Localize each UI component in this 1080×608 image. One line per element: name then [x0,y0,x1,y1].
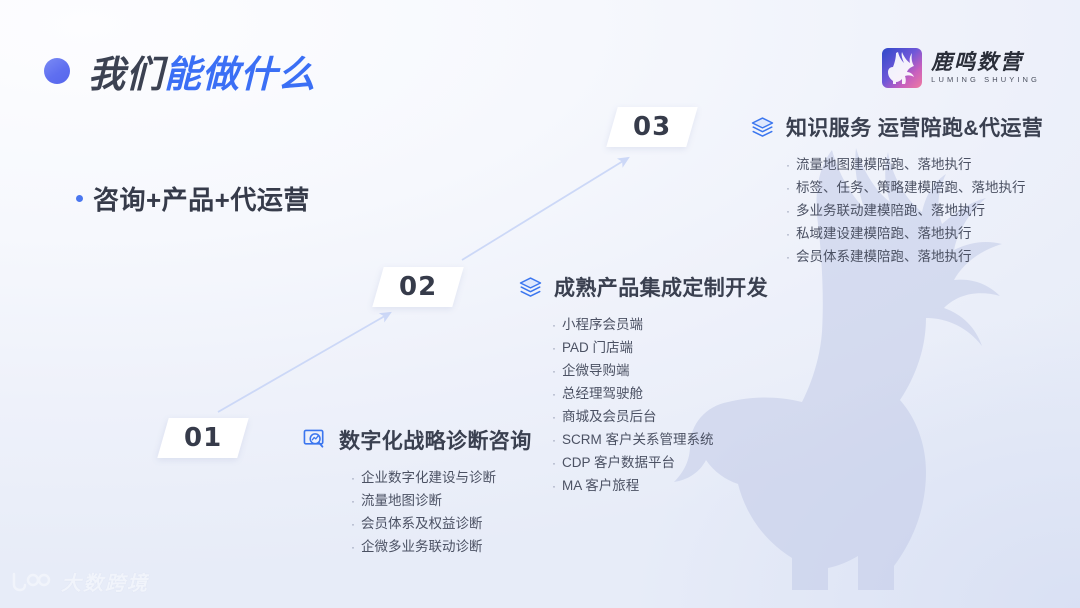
list-item-label: MA 客户旅程 [562,474,639,497]
list-item-label: 企微多业务联动诊断 [361,535,483,558]
list-item-label: SCRM 客户关系管理系统 [562,428,714,451]
list-item-label: 标签、任务、策略建模陪跑、落地执行 [796,176,1026,199]
list-item-label: 私域建设建模陪跑、落地执行 [796,222,972,245]
step-03-header: 知识服务 运营陪跑&代运营 [750,112,1043,142]
page-title-part2: 能做什么 [164,53,316,96]
step-02-header: 成熟产品集成定制开发 [518,272,768,302]
list-item: ·商城及会员后台 [552,405,768,428]
list-item-label: 企微导购端 [562,359,630,382]
dashukuajing-logo-icon [10,570,52,594]
list-bullet: · [552,319,556,331]
layers-stack-icon [750,115,775,140]
chart-magnifier-icon [303,428,328,453]
list-bullet: · [351,518,355,530]
list-item: ·会员体系建模陪跑、落地执行 [786,245,1043,268]
list-item: ·标签、任务、策略建模陪跑、落地执行 [786,176,1043,199]
list-bullet: · [552,342,556,354]
step-01-header: 数字化战略诊断咨询 [303,425,532,455]
deer-logo-icon [882,48,922,88]
step-block-02: 成熟产品集成定制开发 ·小程序会员端 ·PAD 门店端 ·企微导购端 ·总经理驾… [518,272,768,497]
list-item-label: 流量地图建模陪跑、落地执行 [796,153,972,176]
step-03-list: ·流量地图建模陪跑、落地执行 ·标签、任务、策略建模陪跑、落地执行 ·多业务联动… [786,153,1043,268]
list-item-label: 会员体系及权益诊断 [361,512,483,535]
list-item: ·CDP 客户数据平台 [552,451,768,474]
list-item-label: 会员体系建模陪跑、落地执行 [796,245,972,268]
list-item: ·SCRM 客户关系管理系统 [552,428,768,451]
brand-name-en: LUMING SHUYING [931,76,1040,84]
list-item-label: 总经理驾驶舱 [562,382,643,405]
step-badge-02-number: 02 [399,272,437,302]
list-item-label: 企业数字化建设与诊断 [361,466,496,489]
list-item: ·私域建设建模陪跑、落地执行 [786,222,1043,245]
list-bullet: · [786,228,790,240]
list-bullet: · [351,541,355,553]
list-item: ·企微多业务联动诊断 [351,535,532,558]
list-item: ·会员体系及权益诊断 [351,512,532,535]
list-bullet: · [351,495,355,507]
list-item: ·流量地图建模陪跑、落地执行 [786,153,1043,176]
list-bullet: · [552,365,556,377]
footer-watermark: 大数跨境 [10,567,149,596]
brand-name-cn: 鹿鸣数营 [931,52,1040,73]
list-bullet: · [351,472,355,484]
step-badge-01-number: 01 [184,423,222,453]
list-item-label: 小程序会员端 [562,313,643,336]
list-item-label: 流量地图诊断 [361,489,442,512]
list-item: ·企业数字化建设与诊断 [351,466,532,489]
list-bullet: · [552,480,556,492]
list-item-label: 多业务联动建模陪跑、落地执行 [796,199,985,222]
brand-logo: 鹿鸣数营 LUMING SHUYING [882,48,1040,88]
arrow-01-to-02 [218,313,390,412]
step-block-01: 数字化战略诊断咨询 ·企业数字化建设与诊断 ·流量地图诊断 ·会员体系及权益诊断… [303,425,532,558]
layers-stack-icon [518,275,543,300]
step-badge-02: 02 [372,267,463,307]
step-03-title: 知识服务 运营陪跑&代运营 [786,112,1043,142]
list-bullet: · [552,434,556,446]
circle-bullet-icon [44,58,70,84]
list-item-label: CDP 客户数据平台 [562,451,675,474]
list-bullet: · [786,251,790,263]
list-item: ·多业务联动建模陪跑、落地执行 [786,199,1043,222]
step-02-title: 成熟产品集成定制开发 [554,272,768,302]
list-bullet: · [786,182,790,194]
step-badge-01: 01 [157,418,248,458]
step-badge-03-number: 03 [633,112,671,142]
step-01-list: ·企业数字化建设与诊断 ·流量地图诊断 ·会员体系及权益诊断 ·企微多业务联动诊… [351,466,532,558]
list-item: ·MA 客户旅程 [552,474,768,497]
list-item: ·总经理驾驶舱 [552,382,768,405]
list-bullet: · [786,159,790,171]
tagline-bullet-icon [76,195,83,202]
page-title-text: 我们能做什么 [88,44,316,98]
step-02-list: ·小程序会员端 ·PAD 门店端 ·企微导购端 ·总经理驾驶舱 ·商城及会员后台… [552,313,768,497]
list-item: ·企微导购端 [552,359,768,382]
list-bullet: · [552,411,556,423]
arrow-02-to-03 [462,158,628,260]
list-item-label: 商城及会员后台 [562,405,657,428]
list-item: ·PAD 门店端 [552,336,768,359]
step-block-03: 知识服务 运营陪跑&代运营 ·流量地图建模陪跑、落地执行 ·标签、任务、策略建模… [750,112,1043,268]
tagline: 咨询+产品+代运营 [76,180,310,217]
list-bullet: · [786,205,790,217]
list-bullet: · [552,388,556,400]
page-title-part1: 我们 [88,53,164,96]
footer-watermark-text: 大数跨境 [61,567,149,596]
step-badge-03: 03 [606,107,697,147]
tagline-text: 咨询+产品+代运营 [93,180,310,217]
list-item-label: PAD 门店端 [562,336,633,359]
step-01-title: 数字化战略诊断咨询 [339,425,532,455]
page-title: 我们能做什么 [44,44,316,98]
slide-canvas: 我们能做什么 鹿鸣数营 LUMING SHUYING 咨询+产品+代运营 [0,0,1080,608]
list-bullet: · [552,457,556,469]
list-item: ·小程序会员端 [552,313,768,336]
list-item: ·流量地图诊断 [351,489,532,512]
